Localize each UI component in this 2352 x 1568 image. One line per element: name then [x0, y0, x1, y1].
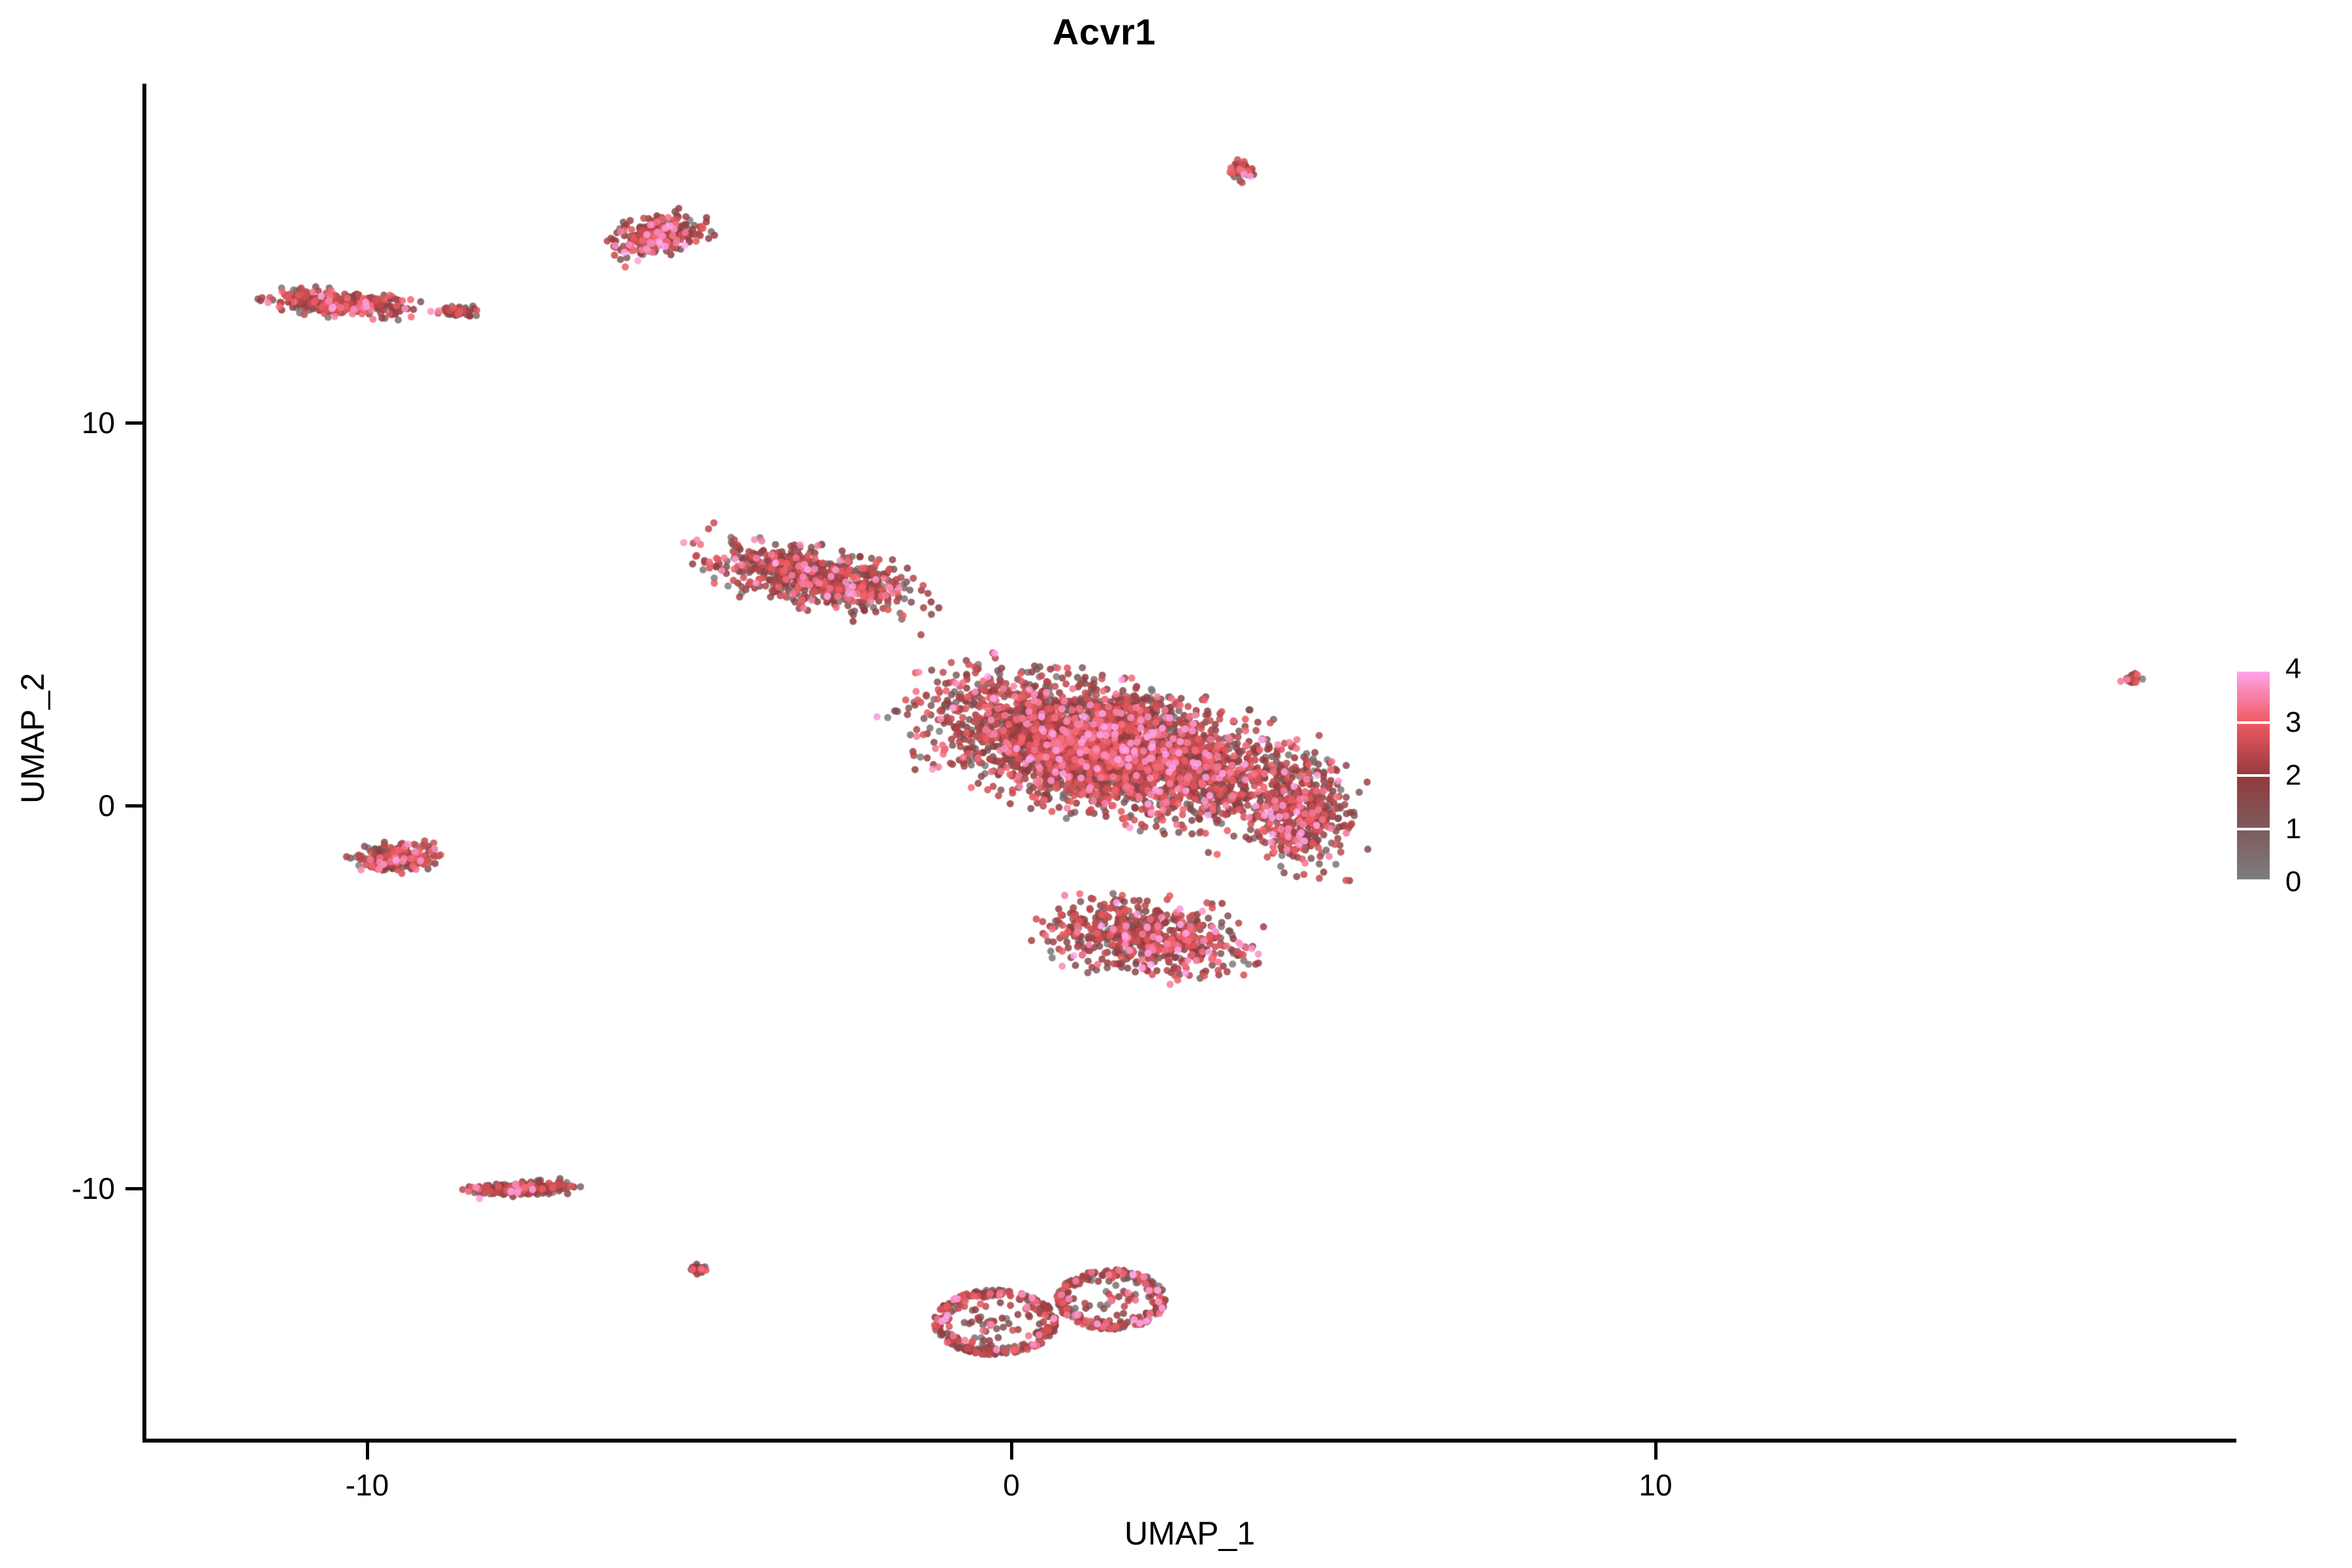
- y-tick-mark: [125, 804, 142, 808]
- page-title: Acvr1: [0, 12, 2208, 52]
- y-tick-mark: [125, 421, 142, 425]
- colorbar-tick-mark: [2237, 879, 2270, 882]
- x-axis-title: UMAP_1: [144, 1517, 2235, 1550]
- colorbar-tick-label: 3: [2285, 708, 2301, 737]
- umap-feature-plot: Acvr1 100-10 -10010 UMAP_1 UMAP_2 43210: [0, 0, 2352, 1568]
- x-tick-label: 0: [913, 1470, 1109, 1500]
- colorbar-tick-label: 0: [2285, 868, 2301, 896]
- scatter-points-layer: [144, 85, 2235, 1441]
- x-tick-mark: [1010, 1443, 1013, 1460]
- y-tick-label: -10: [0, 1173, 115, 1203]
- x-tick-mark: [366, 1443, 369, 1460]
- colorbar-legend: 43210: [2237, 669, 2352, 885]
- colorbar-tick-label: 2: [2285, 761, 2301, 790]
- colorbar-tick-label: 4: [2285, 655, 2301, 683]
- colorbar-tick-mark: [2237, 828, 2270, 830]
- x-tick-mark: [1654, 1443, 1658, 1460]
- colorbar-tick-mark: [2237, 774, 2270, 777]
- colorbar-tick-mark: [2237, 669, 2270, 672]
- colorbar-tick-mark: [2237, 721, 2270, 724]
- colorbar-tick-label: 1: [2285, 815, 2301, 843]
- y-axis-title: UMAP_2: [16, 542, 49, 934]
- y-tick-label: 10: [0, 408, 115, 438]
- plot-panel: [144, 85, 2235, 1441]
- x-tick-label: 10: [1558, 1470, 1754, 1500]
- x-axis-line: [142, 1439, 2236, 1443]
- x-tick-label: -10: [269, 1470, 465, 1500]
- y-tick-mark: [125, 1187, 142, 1190]
- y-axis-line: [142, 84, 146, 1443]
